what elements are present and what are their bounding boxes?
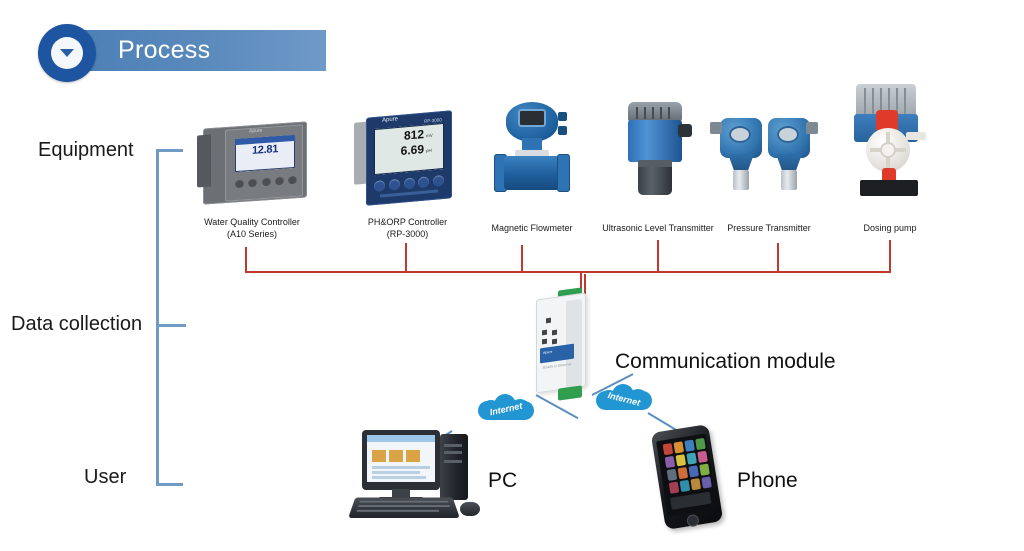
controller-key-5[interactable]: [288, 175, 297, 185]
controller-side-panel: [197, 135, 211, 188]
flowmeter-conduit-lug-1: [558, 112, 567, 121]
controller-key-4[interactable]: [275, 176, 284, 186]
stage-label-user: User: [84, 466, 126, 489]
phone-app-grid: [663, 438, 712, 494]
communication-module-label: Communication module: [615, 350, 836, 374]
keyboard[interactable]: [348, 497, 460, 517]
caption-line-1: PH&ORP Controller: [345, 216, 470, 228]
device-pressure-transmitter[interactable]: [714, 106, 824, 200]
controller-key-3[interactable]: [262, 177, 271, 187]
caption-dosing-pump: Dosing pump: [835, 222, 945, 234]
module-led-1: [546, 318, 551, 324]
internet-cloud-left: Internet: [478, 392, 534, 426]
mouse[interactable]: [460, 502, 480, 516]
flowmeter-display-window: [518, 109, 546, 127]
stage-tick-data-collection: [156, 324, 186, 327]
module-brand-text: Apure: [543, 347, 574, 355]
phone-home-button[interactable]: [686, 514, 700, 528]
communication-module-device[interactable]: Apure RS485 to Ethernet: [528, 288, 600, 398]
phone-body: [651, 424, 724, 530]
fieldbus-drop-5: [777, 243, 779, 272]
diagram-canvas: Process Equipment Data collection User A…: [0, 0, 1024, 551]
screen-text-line-2: [372, 471, 420, 474]
ph-controller-unit-ph: pH: [426, 148, 432, 154]
stage-tick-equipment: [156, 149, 183, 152]
pc-tower: [440, 434, 468, 500]
fieldbus-line: [245, 271, 891, 273]
module-terminal-bottom: [558, 385, 582, 400]
monitor-screen-titlebar: [367, 435, 435, 442]
flowmeter-conduit-lug-2: [558, 126, 567, 135]
phone-label: Phone: [737, 469, 798, 493]
stage-tick-user: [156, 483, 183, 486]
ph-controller-key-2[interactable]: [389, 179, 400, 191]
pc-device[interactable]: [352, 428, 492, 518]
screen-thumb-1: [372, 450, 386, 462]
pressure-window-1: [729, 126, 751, 143]
pc-label: PC: [488, 469, 517, 493]
caption-line-1: Dosing pump: [835, 222, 945, 234]
ultrasonic-housing: [628, 120, 682, 162]
caption-magnetic-flowmeter: Magnetic Flowmeter: [472, 222, 592, 234]
pressure-stem-1: [733, 170, 749, 190]
fieldbus-drop-3: [521, 245, 523, 272]
pressure-conduit-2: [806, 122, 818, 134]
phone-dock: [670, 492, 711, 510]
caption-line-1: Pressure Transmitter: [714, 222, 824, 234]
device-ultrasonic-level-transmitter[interactable]: [614, 98, 704, 200]
flowmeter-flange-right: [557, 154, 570, 192]
caption-line-2: (RP-3000): [345, 228, 470, 240]
page-title: Process: [118, 36, 210, 65]
pump-head-hub: [882, 144, 894, 156]
dosing-pump-base: [860, 180, 918, 196]
ph-controller-key-5[interactable]: [433, 175, 444, 187]
screen-text-line-1: [372, 466, 430, 469]
device-dosing-pump[interactable]: [840, 82, 940, 202]
stage-label-equipment: Equipment: [38, 139, 134, 162]
caption-line-1: Water Quality Controller: [186, 216, 318, 228]
stage-label-data-collection: Data collection: [11, 313, 142, 336]
process-knob-button[interactable]: [38, 24, 96, 82]
ph-controller-unit-orp: mV: [426, 133, 433, 139]
ph-controller-key-4[interactable]: [418, 176, 429, 188]
pressure-transmitter-unit-2: [766, 112, 812, 190]
caption-line-2: (A10 Series): [186, 228, 318, 240]
caption-line-1: Ultrasonic Level Transmitter: [588, 222, 728, 234]
dosing-pump-stroke-knob[interactable]: [906, 132, 926, 140]
pressure-conduit-1: [710, 122, 722, 134]
caption-ph-orp-controller: PH&ORP Controller (RP-3000): [345, 216, 470, 240]
caption-pressure-transmitter: Pressure Transmitter: [714, 222, 824, 234]
ultrasonic-sensor-horn: [638, 167, 672, 195]
screen-thumb-2: [389, 450, 403, 462]
caption-line-1: Magnetic Flowmeter: [472, 222, 592, 234]
screen-text-line-3: [372, 476, 426, 479]
flowmeter-pipe-body: [504, 156, 560, 190]
module-led-5: [552, 339, 557, 345]
ph-controller-key-1[interactable]: [374, 180, 385, 192]
pressure-stem-2: [781, 170, 797, 190]
controller-key-1[interactable]: [235, 179, 244, 189]
pressure-window-2: [777, 126, 799, 143]
fieldbus-drop-6: [889, 240, 891, 272]
device-ph-orp-controller[interactable]: Apure RP-3000 812 mV 6.69 pH: [352, 108, 464, 208]
chevron-down-icon: [60, 49, 74, 57]
module-led-2: [542, 330, 547, 336]
stage-bracket: [156, 149, 159, 486]
module-led-4: [542, 339, 547, 345]
internet-cloud-right: Internet: [596, 382, 652, 416]
screen-thumb-3: [406, 450, 420, 462]
device-magnetic-flowmeter[interactable]: [482, 98, 582, 198]
caption-water-quality-controller: Water Quality Controller (A10 Series): [186, 216, 318, 240]
module-led-3: [552, 330, 557, 336]
pressure-transmitter-unit-1: [718, 112, 764, 190]
ultrasonic-cable-gland: [678, 124, 692, 137]
controller-brand-text: Apure: [249, 128, 262, 135]
device-water-quality-controller[interactable]: Apure 12.81: [197, 117, 317, 209]
fieldbus-drop-2: [405, 243, 407, 272]
controller-key-2[interactable]: [248, 178, 257, 188]
fieldbus-drop-4: [657, 240, 659, 272]
phone-screen: [656, 434, 717, 517]
fieldbus-drop-1: [245, 247, 247, 272]
phone-device[interactable]: [652, 424, 724, 530]
dosing-pump-head: [866, 128, 910, 172]
ph-controller-key-3[interactable]: [404, 178, 415, 190]
caption-ultrasonic-level-transmitter: Ultrasonic Level Transmitter: [588, 222, 728, 234]
